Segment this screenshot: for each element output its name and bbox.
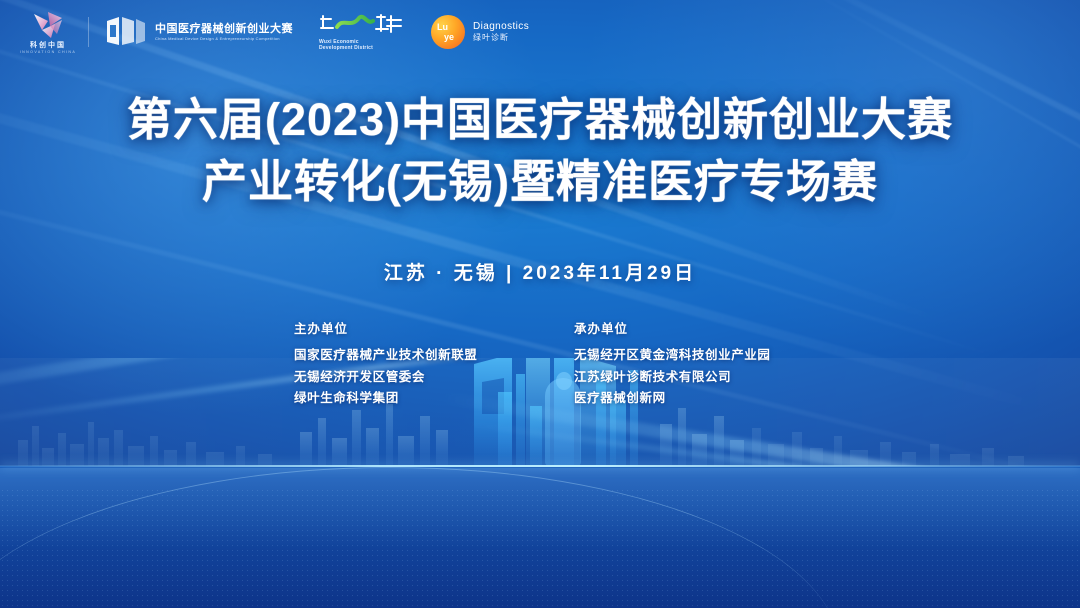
skyline-building — [752, 428, 761, 466]
horizon-line — [0, 465, 1080, 467]
ground-plane — [0, 466, 1080, 608]
title-block: 第六届(2023)中国医疗器械创新创业大赛 产业转化(无锡)暨精准医疗专场赛 — [0, 95, 1080, 208]
skyline-building — [792, 432, 802, 466]
logo-wedd-en-line1: Wuxi Economic — [319, 39, 359, 45]
light-beam — [459, 420, 1080, 515]
skyline-tower — [530, 406, 542, 466]
skyline-building — [352, 410, 361, 466]
event-location-date: 江苏 · 无锡 | 2023年11月29日 — [0, 258, 1080, 285]
skyline-building — [982, 448, 994, 466]
skyline-building — [128, 446, 144, 466]
logo-divider — [88, 17, 89, 47]
skyline-building — [186, 442, 196, 466]
light-beam — [438, 391, 1080, 522]
logo-wuxi-economic-development-district: Wuxi Economic Development District — [319, 13, 405, 52]
organizer-column-host: 主办单位 国家医疗器械产业技术创新联盟 无锡经济开发区管委会 绿叶生命科学集团 — [294, 318, 574, 410]
skyline-building — [32, 426, 39, 466]
logo-innovation-china: 科创中国 INNOVATION CHINA — [14, 10, 82, 55]
skyline-building — [114, 430, 123, 466]
skyline-building — [902, 452, 916, 466]
skyline-building — [810, 448, 823, 466]
conference-banner: 科创中国 INNOVATION CHINA 中国医疗器械创新创业大赛 China… — [0, 0, 1080, 608]
skyline-building — [834, 436, 842, 466]
skyline-building — [206, 452, 224, 466]
skyline-building — [420, 416, 430, 466]
logo-innovation-china-cn: 科创中国 — [30, 42, 66, 49]
skyline-building — [150, 436, 158, 466]
logo-luye-cn: 绿叶诊断 — [473, 34, 529, 42]
ground-arc-line — [0, 467, 840, 608]
calligraphy-mark-icon — [319, 13, 405, 35]
skyline-building — [692, 434, 707, 466]
ground-dot-texture — [0, 488, 1080, 608]
skyline-building — [660, 424, 672, 466]
skyline-building — [398, 436, 414, 466]
luye-mark-ye: ye — [444, 33, 454, 42]
luye-mark-lu: Lu — [437, 23, 448, 32]
skyline-building — [930, 444, 939, 466]
logo-cmdc-en: China Medical Device Design & Entreprene… — [155, 37, 293, 41]
skyline-building — [678, 408, 686, 466]
luye-circle-mark-icon: Lu ye — [431, 15, 465, 49]
skyline-building — [366, 428, 379, 466]
logo-wedd-en: Wuxi Economic Development District — [319, 39, 373, 52]
organizer-block: 主办单位 国家医疗器械产业技术创新联盟 无锡经济开发区管委会 绿叶生命科学集团 … — [294, 318, 854, 410]
skyline-building — [58, 433, 66, 466]
organizer-item: 无锡经济开发区管委会 — [294, 367, 574, 389]
skyline-building — [332, 438, 347, 466]
background-light-rays — [0, 0, 1080, 608]
skyline-building — [850, 450, 868, 466]
organizer-item: 绿叶生命科学集团 — [294, 388, 574, 410]
open-book-mark-icon — [105, 15, 147, 49]
sponsor-logo-bar: 科创中国 INNOVATION CHINA 中国医疗器械创新创业大赛 China… — [0, 0, 1080, 64]
skyline-building — [42, 448, 54, 466]
butterfly-mark-icon — [31, 10, 65, 40]
organizer-item: 国家医疗器械产业技术创新联盟 — [294, 345, 574, 367]
organizer-heading: 主办单位 — [294, 318, 574, 337]
organizer-item: 医疗器械创新网 — [574, 388, 854, 410]
organizer-heading: 承办单位 — [574, 318, 854, 337]
skyline-building — [164, 450, 177, 466]
skyline-building — [880, 442, 891, 466]
skyline-building — [950, 454, 970, 466]
skyline-building — [386, 404, 393, 466]
skyline-building — [300, 432, 312, 466]
ground-reflection — [0, 468, 1080, 548]
skyline-building — [318, 418, 326, 466]
logo-luye-diagnostics: Lu ye Diagnostics 绿叶诊断 — [431, 15, 529, 49]
organizer-item: 江苏绿叶诊断技术有限公司 — [574, 367, 854, 389]
skyline-building — [88, 422, 94, 466]
organizer-item: 无锡经开区黄金湾科技创业产业园 — [574, 345, 854, 367]
skyline-building — [436, 430, 448, 466]
skyline-building — [258, 454, 272, 466]
skyline-building — [714, 416, 724, 466]
skyline-building — [98, 438, 109, 466]
skyline-tower — [610, 400, 626, 466]
logo-innovation-china-en: INNOVATION CHINA — [20, 51, 76, 55]
logo-wedd-en-line2: Development District — [319, 45, 373, 51]
title-line-2: 产业转化(无锡)暨精准医疗专场赛 — [0, 157, 1080, 207]
organizer-column-coorganizer: 承办单位 无锡经开区黄金湾科技创业产业园 江苏绿叶诊断技术有限公司 医疗器械创新… — [574, 318, 854, 410]
skyline-building — [236, 446, 245, 466]
title-line-1: 第六届(2023)中国医疗器械创新创业大赛 — [0, 95, 1080, 145]
skyline-building — [768, 444, 784, 466]
skyline-building — [70, 444, 84, 466]
logo-cmdc: 中国医疗器械创新创业大赛 China Medical Device Design… — [105, 15, 293, 49]
skyline-building — [730, 440, 744, 466]
skyline-building — [1008, 456, 1024, 466]
logo-cmdc-cn: 中国医疗器械创新创业大赛 — [155, 24, 293, 35]
logo-luye-en: Diagnostics — [473, 22, 529, 32]
skyline-building — [18, 440, 28, 466]
